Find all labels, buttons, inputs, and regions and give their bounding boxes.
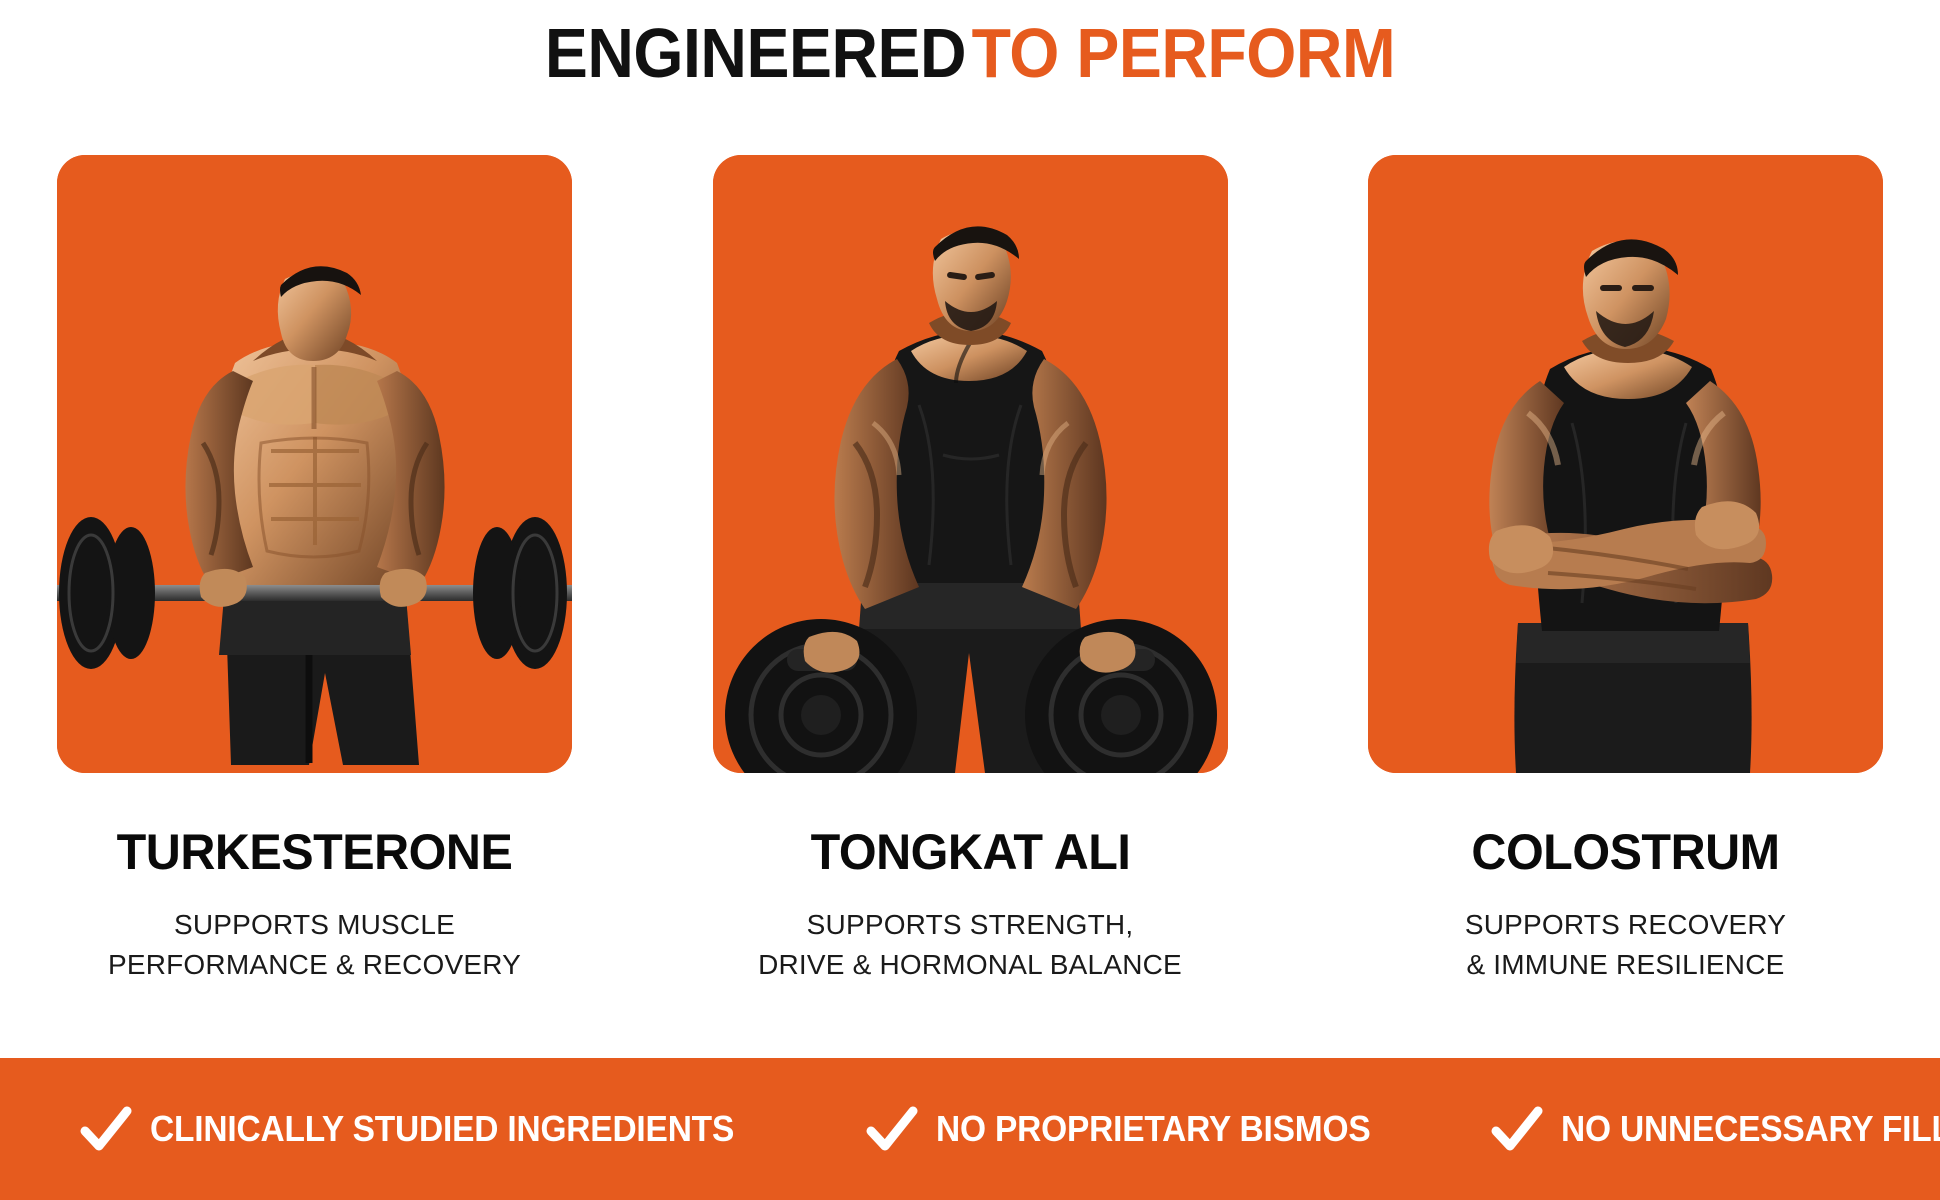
claim-label: CLINICALLY STUDIED INGREDIENTS	[150, 1108, 734, 1150]
headline-lead: ENGINEERED	[545, 14, 966, 92]
caption-tongkat-ali: TONGKAT ALI SUPPORTS STRENGTH, DRIVE & H…	[713, 825, 1228, 1015]
ingredient-subtitle: SUPPORTS MUSCLE PERFORMANCE & RECOVERY	[57, 905, 572, 985]
ingredient-card-tongkat-ali[interactable]	[713, 155, 1228, 773]
claims-bar: CLINICALLY STUDIED INGREDIENTS NO PROPRI…	[0, 1058, 1940, 1200]
ingredient-card-row	[57, 155, 1883, 773]
ingredient-card-colostrum[interactable]	[1368, 155, 1883, 773]
ingredient-title: TURKESTERONE	[65, 825, 565, 879]
caption-turkesterone: TURKESTERONE SUPPORTS MUSCLE PERFORMANCE…	[57, 825, 572, 1015]
ingredient-card-turkesterone[interactable]	[57, 155, 572, 773]
page-title: ENGINEEREDTO PERFORM	[78, 14, 1863, 92]
headline-accent: TO PERFORM	[972, 14, 1396, 92]
claim-label: NO PROPRIETARY BISMOS	[936, 1108, 1370, 1150]
ingredient-subtitle-line-2: PERFORMANCE & RECOVERY	[57, 945, 572, 985]
ingredient-title: COLOSTRUM	[1376, 825, 1876, 879]
ingredient-subtitle-line-1: SUPPORTS RECOVERY	[1368, 905, 1883, 945]
bodybuilder-arms-crossed-photo	[1368, 155, 1883, 773]
claim-no-proprietary-bismos: NO PROPRIETARY BISMOS	[866, 1103, 1403, 1155]
promo-banner: ENGINEEREDTO PERFORM	[0, 0, 1940, 1200]
ingredient-title: TONGKAT ALI	[720, 825, 1220, 879]
ingredient-subtitle-line-1: SUPPORTS MUSCLE	[57, 905, 572, 945]
check-icon	[866, 1103, 918, 1155]
ingredient-subtitle: SUPPORTS STRENGTH, DRIVE & HORMONAL BALA…	[713, 905, 1228, 985]
ingredient-subtitle-line-2: DRIVE & HORMONAL BALANCE	[713, 945, 1228, 985]
ingredient-subtitle: SUPPORTS RECOVERY & IMMUNE RESILIENCE	[1368, 905, 1883, 985]
ingredient-subtitle-line-2: & IMMUNE RESILIENCE	[1368, 945, 1883, 985]
bodybuilder-barbell-curl-photo	[57, 155, 572, 773]
caption-colostrum: COLOSTRUM SUPPORTS RECOVERY & IMMUNE RES…	[1368, 825, 1883, 1015]
ingredient-subtitle-line-1: SUPPORTS STRENGTH,	[713, 905, 1228, 945]
check-icon	[80, 1103, 132, 1155]
claim-clinically-studied-ingredients: CLINICALLY STUDIED INGREDIENTS	[80, 1103, 778, 1155]
check-icon	[1491, 1103, 1543, 1155]
claim-label: NO UNNECESSARY FILLERS	[1561, 1108, 1940, 1150]
ingredient-caption-row: TURKESTERONE SUPPORTS MUSCLE PERFORMANCE…	[57, 825, 1883, 1015]
bodybuilder-dumbbell-row-photo	[713, 155, 1228, 773]
claim-no-unnecessary-fillers: NO UNNECESSARY FILLERS	[1491, 1103, 1940, 1155]
